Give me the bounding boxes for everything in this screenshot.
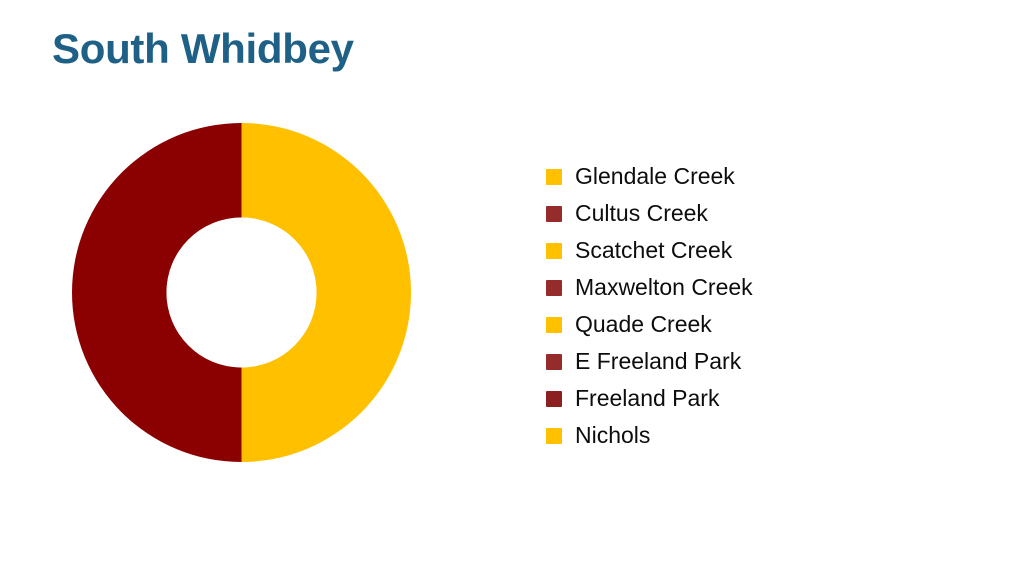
legend-swatch-icon (546, 428, 562, 444)
page-title: South Whidbey (52, 25, 354, 73)
legend-item-label: Nichols (575, 424, 650, 447)
legend-item-scatchet-creek[interactable]: Scatchet Creek (546, 232, 966, 269)
legend-swatch-icon (546, 169, 562, 185)
legend-item-label: Freeland Park (575, 387, 719, 410)
legend-item-nichols[interactable]: Nichols (546, 417, 966, 454)
legend-swatch-icon (546, 317, 562, 333)
legend-item-label: Glendale Creek (575, 165, 735, 188)
legend-swatch-icon (546, 206, 562, 222)
donut-chart (72, 123, 411, 462)
legend-swatch-icon (546, 354, 562, 370)
legend-item-label: Cultus Creek (575, 202, 708, 225)
legend-item-label: E Freeland Park (575, 350, 741, 373)
legend-swatch-icon (546, 391, 562, 407)
chart-legend: Glendale Creek Cultus Creek Scatchet Cre… (546, 158, 966, 454)
slide-canvas: South Whidbey Glendale Creek Cultus Cree… (0, 0, 1024, 562)
legend-item-quade-creek[interactable]: Quade Creek (546, 306, 966, 343)
legend-item-label: Maxwelton Creek (575, 276, 753, 299)
legend-item-glendale-creek[interactable]: Glendale Creek (546, 158, 966, 195)
legend-item-label: Scatchet Creek (575, 239, 732, 262)
donut-hole (167, 218, 317, 368)
legend-item-freeland-park[interactable]: Freeland Park (546, 380, 966, 417)
legend-item-label: Quade Creek (575, 313, 712, 336)
legend-swatch-icon (546, 243, 562, 259)
legend-swatch-icon (546, 280, 562, 296)
legend-item-e-freeland-park[interactable]: E Freeland Park (546, 343, 966, 380)
donut-chart-svg (72, 123, 411, 462)
legend-item-cultus-creek[interactable]: Cultus Creek (546, 195, 966, 232)
legend-item-maxwelton-creek[interactable]: Maxwelton Creek (546, 269, 966, 306)
